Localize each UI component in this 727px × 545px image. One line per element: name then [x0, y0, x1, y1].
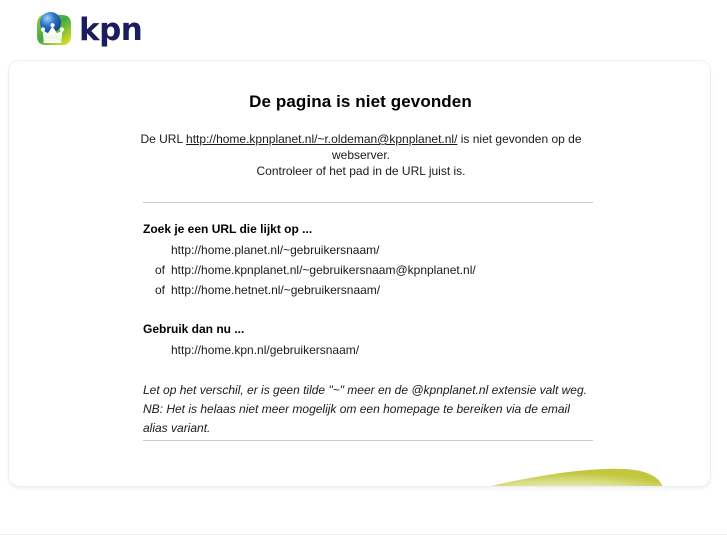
divider-bottom [143, 440, 593, 441]
footer-divider [0, 534, 727, 535]
url-prefix: of [143, 263, 165, 277]
url-text: http://home.kpn.nl/gebruikersnaam/ [171, 343, 359, 357]
note-line-2: NB: Het is helaas niet meer mogelijk om … [143, 400, 593, 438]
card-content: De pagina is niet gevonden De URL http:/… [9, 61, 711, 487]
url-text: http://home.kpnplanet.nl/~gebruikersnaam… [171, 263, 476, 277]
example-url-row: ofhttp://home.hetnet.nl/~gebruikersnaam/ [143, 283, 380, 297]
recommended-url-row: http://home.kpn.nl/gebruikersnaam/ [143, 343, 359, 357]
intro-second-line: Controleer of het pad in de URL juist is… [257, 164, 466, 178]
page-title: De pagina is niet gevonden [9, 92, 711, 112]
page-header: kpn [0, 0, 727, 58]
kpn-wordmark: kpn [79, 15, 142, 46]
url-prefix: of [143, 283, 165, 297]
kpn-logo[interactable]: kpn [34, 9, 142, 49]
requested-url-link[interactable]: http://home.kpnplanet.nl/~r.oldeman@kpnp… [186, 132, 457, 146]
note-line-1: Let op het verschil, er is geen tilde "~… [143, 381, 603, 400]
divider-top [143, 202, 593, 203]
example-url-row: http://home.planet.nl/~gebruikersnaam/ [143, 243, 379, 257]
example-url-row: ofhttp://home.kpnplanet.nl/~gebruikersna… [143, 263, 476, 277]
intro-paragraph: De URL http://home.kpnplanet.nl/~r.oldem… [135, 131, 587, 179]
intro-before-link: De URL [140, 132, 186, 146]
kpn-crown-logo-icon [34, 9, 75, 49]
search-section-heading: Zoek je een URL die lijkt op ... [143, 222, 312, 236]
url-text: http://home.hetnet.nl/~gebruikersnaam/ [171, 283, 380, 297]
url-text: http://home.planet.nl/~gebruikersnaam/ [171, 243, 379, 257]
error-card: De pagina is niet gevonden De URL http:/… [8, 60, 711, 487]
use-section-heading: Gebruik dan nu ... [143, 322, 244, 336]
